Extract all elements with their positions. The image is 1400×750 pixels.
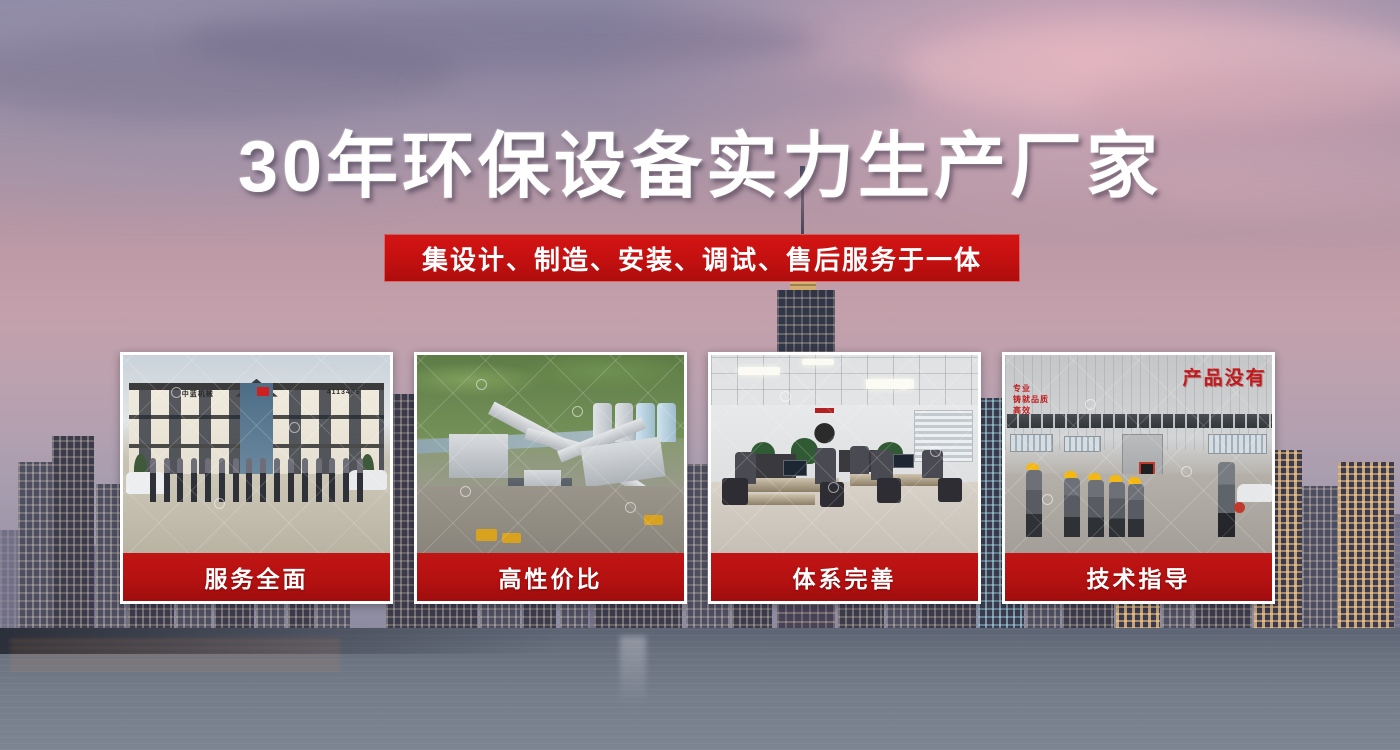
supervisor-figure [1218, 462, 1235, 537]
promo-banner: 30年环保设备实力生产厂家 集设计、制造、安装、调试、售后服务于一体 中蓝机械 … [0, 0, 1400, 750]
banner-subtitle-text: 集设计、制造、安装、调试、售后服务于一体 [422, 240, 982, 277]
feature-card[interactable]: 产品没有 专业铸就品质高效成就辉煌 [1002, 352, 1275, 604]
feature-card[interactable]: 体系完善 [708, 352, 981, 604]
card-photo-worker-briefing: 产品没有 专业铸就品质高效成就辉煌 [1005, 355, 1272, 553]
card-caption-bar: 体系完善 [711, 553, 978, 601]
card-photo-office-interior [711, 355, 978, 553]
banner-subtitle-bar: 集设计、制造、安装、调试、售后服务于一体 [384, 234, 1020, 282]
cloud-band [420, 64, 920, 124]
card-caption-text: 高性价比 [499, 560, 603, 594]
banner-headline: 30年环保设备实力生产厂家 [0, 131, 1400, 203]
card-caption-text: 体系完善 [793, 560, 897, 594]
building-phone-number: 4113456 [327, 389, 361, 396]
card-caption-text: 技术指导 [1087, 560, 1191, 594]
feature-card-row: 中蓝机械 4113456 服务全面 [120, 352, 1278, 604]
staff-lineup [150, 458, 364, 502]
card-photo-office-building: 中蓝机械 4113456 [123, 355, 390, 553]
water-streak [620, 636, 646, 706]
water-reflection [10, 640, 340, 670]
card-caption-bar: 技术指导 [1005, 553, 1272, 601]
card-caption-bar: 高性价比 [417, 553, 684, 601]
feature-card[interactable]: 高性价比 [414, 352, 687, 604]
building-signage: 中蓝机械 [182, 389, 214, 399]
card-photo-plant-aerial [417, 355, 684, 553]
feature-card[interactable]: 中蓝机械 4113456 服务全面 [120, 352, 393, 604]
card-caption-text: 服务全面 [205, 560, 309, 594]
card-caption-bar: 服务全面 [123, 553, 390, 601]
factory-sign-large: 产品没有 [1183, 363, 1267, 390]
